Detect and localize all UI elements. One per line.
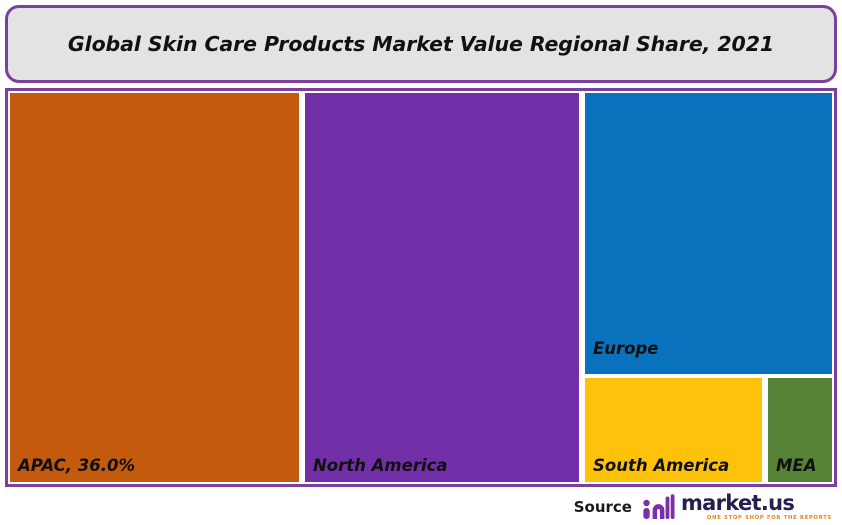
treemap-tile-south-america[interactable]: South America: [585, 378, 762, 482]
chart-container: APAC, 36.0% North America Europe South A…: [5, 88, 837, 487]
chart-page: Global Skin Care Products Market Value R…: [0, 0, 842, 525]
page-title: Global Skin Care Products Market Value R…: [68, 32, 774, 56]
bar-chart-logo-icon: [643, 494, 675, 520]
source-label: Source: [574, 498, 632, 516]
treemap-chart: APAC, 36.0% North America Europe South A…: [8, 91, 834, 484]
logo-tagline: ONE STOP SHOP FOR THE REPORTS: [707, 516, 832, 521]
treemap-tile-mea[interactable]: MEA: [768, 378, 832, 482]
logo-text: market.us ONE STOP SHOP FOR THE REPORTS: [681, 493, 832, 521]
treemap-tile-apac[interactable]: APAC, 36.0%: [10, 93, 299, 482]
treemap-tile-north-america[interactable]: North America: [305, 93, 579, 482]
treemap-tile-label-europe: Europe: [593, 340, 659, 357]
treemap-tile-label-south-america: South America: [593, 457, 729, 474]
market-us-logo[interactable]: market.us ONE STOP SHOP FOR THE REPORTS: [643, 493, 832, 521]
chart-title-bar: Global Skin Care Products Market Value R…: [5, 5, 837, 83]
source-row: Source market.us ONE STOP SHOP FOR THE R…: [0, 489, 842, 525]
treemap-tile-label-mea: MEA: [776, 457, 816, 474]
logo-wordmark: market.us: [681, 493, 794, 514]
treemap-tile-label-north-america: North America: [313, 457, 448, 474]
treemap-tile-label-apac: APAC, 36.0%: [18, 457, 135, 474]
treemap-tile-europe[interactable]: Europe: [585, 93, 832, 374]
